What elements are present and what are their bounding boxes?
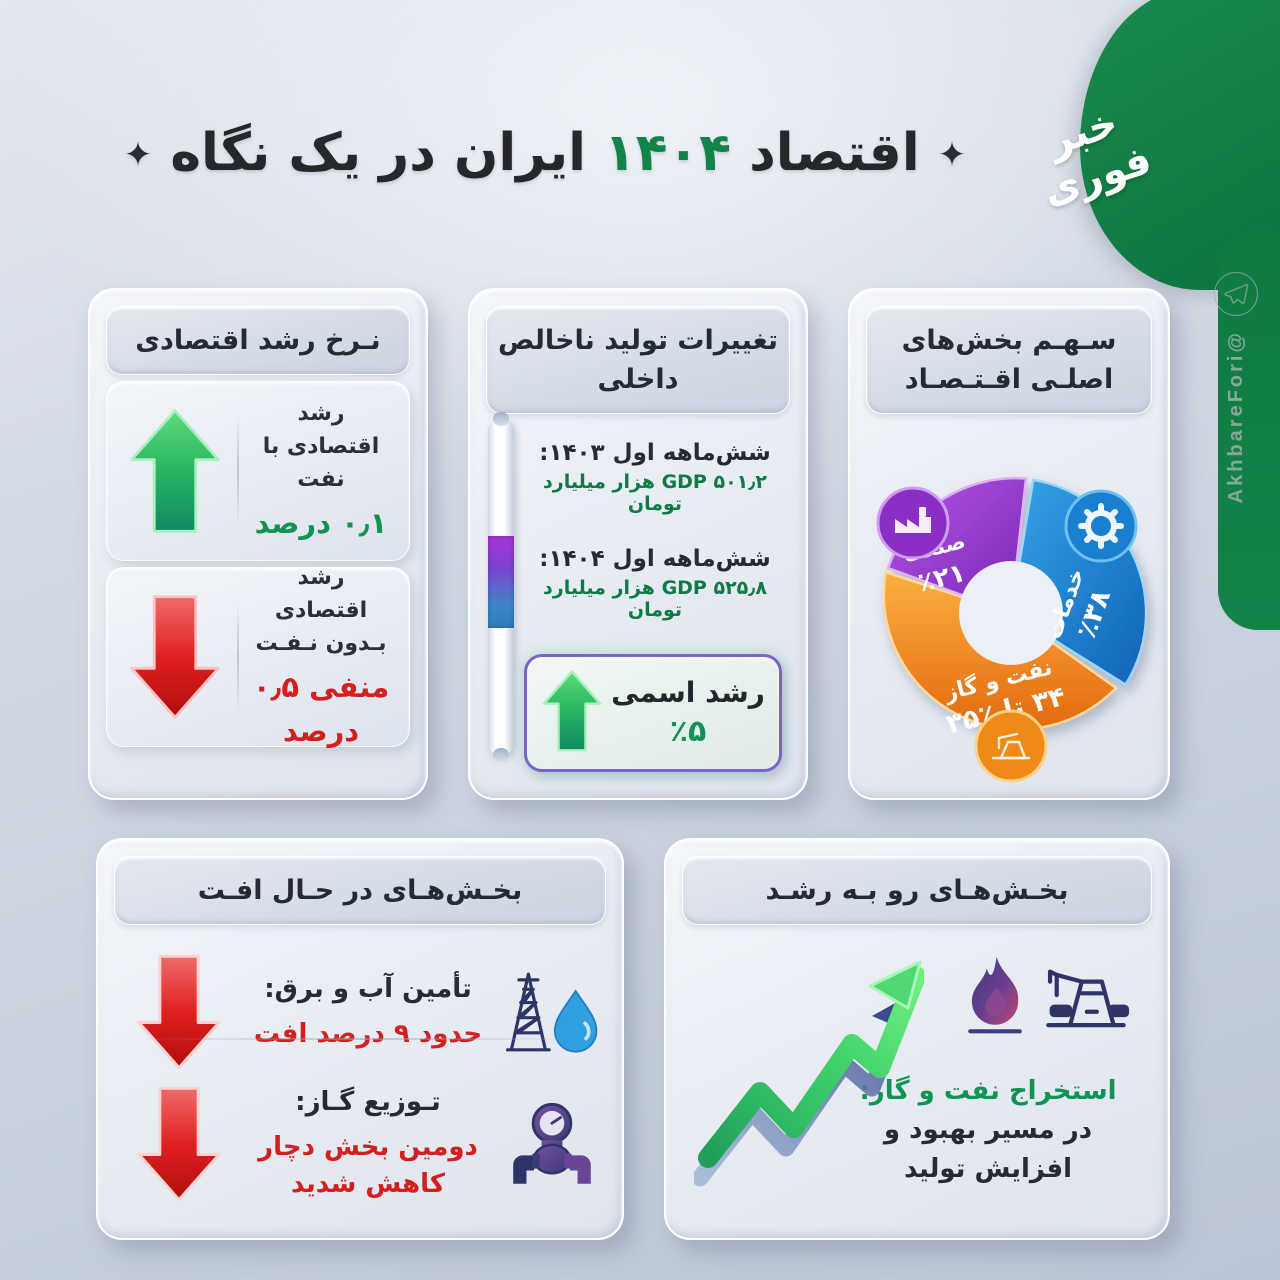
gear-icon (1066, 491, 1136, 561)
oil-pumpjack-icon (1040, 952, 1132, 1042)
card-growth-title: نـرخ رشد اقتصادی (106, 306, 410, 375)
gdp-period-1404: شش‌ماهه اول ۱۴۰۴: (524, 546, 786, 572)
gas-meter-pipe-icon (498, 1095, 606, 1193)
row-divider (138, 1038, 588, 1040)
gdp-entry-1404: شش‌ماهه اول ۱۴۰۴: GDP ۵۲۵٫۸ هزار میلیارد… (524, 546, 786, 621)
gdp-value-1404: GDP ۵۲۵٫۸ هزار میلیارد تومان (524, 577, 786, 621)
page-title-year: ۱۴۰۴ (604, 123, 731, 183)
pen-icon (488, 418, 514, 756)
growth-without-oil-text: رشد اقتصادی بـدون نـفـت منفی ۰٫۵ درصد (245, 561, 397, 753)
decline-row-gas-distribution: تـوزیع گـاز: دومین بخش دچار کاهش شدید (120, 1074, 606, 1214)
gdp-entry-1403: شش‌ماهه اول ۱۴۰۳: GDP ۵۰۱٫۲ هزار میلیارد… (524, 440, 786, 515)
nominal-growth-text: رشد اسمی ٪۵ (611, 675, 765, 750)
card-gdp-changes: تغییرات تولید ناخالص داخلی شش‌ماهه اول ۱… (468, 288, 808, 800)
pen-grip (488, 536, 514, 628)
growth-with-oil-text: رشد اقتصادی با نفت ۰٫۱ درصد (245, 397, 397, 546)
nominal-growth-value: ٪۵ (611, 712, 765, 751)
decline-water-power-text: تأمین آب و برق: حدود ۹ درصد افت (238, 971, 498, 1053)
decline-gas-value: دومین بخش دچار کاهش شدید (238, 1129, 498, 1204)
nominal-growth-label: رشد اسمی (611, 676, 765, 709)
card-sector-share: سـهـم بخش‌های اصلـی اقـتـصـاد (848, 288, 1170, 800)
card-growing-title: بخـش‌هـای رو بـه رشـد (682, 856, 1152, 925)
divider (237, 602, 239, 712)
card-economic-growth-rate: نـرخ رشد اقتصادی رشد اقتصادی با نفت ۰٫۱ … (88, 288, 428, 800)
decline-gas-text: تـوزیع گـاز: دومین بخش دچار کاهش شدید (238, 1084, 498, 1204)
pen-cap-top (493, 412, 509, 426)
growing-sector-icons (962, 952, 1132, 1042)
gas-flame-icon (962, 952, 1028, 1042)
page-title: ✦ اقتصاد ۱۴۰۴ ایران در یک نگاه ✦ (0, 118, 1090, 188)
card-share-title: سـهـم بخش‌های اصلـی اقـتـصـاد (866, 306, 1152, 414)
sparkle-icon-right: ✦ (938, 135, 967, 175)
growth-without-oil-value: منفی ۰٫۵ درصد (249, 666, 393, 753)
growth-row-with-oil: رشد اقتصادی با نفت ۰٫۱ درصد (106, 381, 410, 561)
card-gdp-title: تغییرات تولید ناخالص داخلی (486, 306, 790, 414)
donut-hole (959, 561, 1063, 665)
telegram-handle: @AkhbareFori (1225, 330, 1248, 503)
nominal-growth-badge: رشد اسمی ٪۵ (524, 654, 782, 772)
gdp-value-1403: GDP ۵۰۱٫۲ هزار میلیارد تومان (524, 471, 786, 515)
growth-without-oil-label: رشد اقتصادی بـدون نـفـت (255, 565, 386, 656)
oil-pumpjack-icon (976, 711, 1046, 781)
sparkle-icon-left: ✦ (124, 135, 153, 175)
decline-water-power-label: تأمین آب و برق: (238, 971, 498, 1009)
up-arrow-icon (541, 668, 603, 758)
decline-water-power-value: حدود ۹ درصد افت (238, 1016, 498, 1054)
card-growing-sectors: بخـش‌هـای رو بـه رشـد (664, 838, 1170, 1240)
factory-icon (878, 488, 948, 558)
card-decline-title: بخـش‌هـای در حـال افـت (114, 856, 606, 925)
down-arrow-icon (119, 591, 231, 723)
down-arrow-icon (120, 1083, 238, 1205)
gdp-period-1403: شش‌ماهه اول ۱۴۰۳: (524, 440, 786, 466)
page-title-part1: اقتصاد (731, 123, 920, 183)
card-declining-sectors: بخـش‌هـای در حـال افـت تأمین آب و برق: ح… (96, 838, 624, 1240)
telegram-rail: @AkhbareFori (1204, 272, 1268, 503)
growth-with-oil-value: ۰٫۱ درصد (249, 502, 393, 546)
divider (237, 416, 239, 526)
page-title-part2: ایران در یک نگاه (170, 123, 604, 183)
power-pylon-water-drop-icon (498, 963, 606, 1061)
decline-row-water-power: تأمین آب و برق: حدود ۹ درصد افت (120, 942, 606, 1082)
down-arrow-icon (120, 951, 238, 1073)
decline-gas-label: تـوزیع گـاز: (238, 1084, 498, 1122)
pen-cap-bottom (493, 748, 509, 762)
up-arrow-icon (119, 405, 231, 537)
telegram-plane-icon (1214, 272, 1258, 316)
rising-arrow-chart-icon (694, 952, 924, 1202)
growth-row-without-oil: رشد اقتصادی بـدون نـفـت منفی ۰٫۵ درصد (106, 567, 410, 747)
growth-with-oil-label: رشد اقتصادی با نفت (263, 401, 380, 492)
donut-chart: خدمات ٪۳۸ نفت و گاز ۳۴ تا ٪۳۵ صنعت ٪۲۱ (850, 438, 1172, 783)
